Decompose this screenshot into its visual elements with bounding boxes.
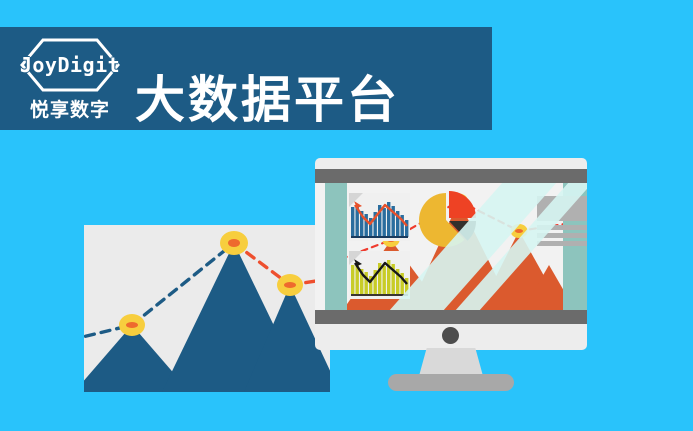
image-placeholder	[537, 196, 587, 221]
yellow-bar-line-card	[349, 251, 410, 299]
power-button[interactable]	[442, 327, 459, 344]
header-bar: JoyDigit 悦享数字 大数据平台	[0, 27, 492, 130]
dashboard-content	[347, 183, 563, 310]
screen-side-band-left	[325, 183, 347, 310]
logo-subtitle: 悦享数字	[30, 95, 110, 122]
monitor-bottom-bezel	[315, 310, 587, 324]
monitor-screen	[315, 183, 587, 310]
mountain-trend-panel	[84, 225, 330, 392]
monitor-stand	[419, 348, 483, 376]
baseline	[351, 294, 408, 296]
baseline	[351, 236, 408, 238]
monitor-top-bezel	[315, 169, 587, 183]
page-title: 大数据平台	[135, 71, 400, 129]
text-line	[537, 241, 587, 246]
text-line	[537, 225, 587, 230]
report-text-block	[537, 196, 587, 243]
text-line	[537, 233, 587, 238]
illustration-canvas: JoyDigit 悦享数字 大数据平台	[0, 0, 693, 431]
monitor-base	[388, 374, 514, 391]
pie-slice-b	[449, 191, 476, 218]
brand-logo[interactable]: JoyDigit 悦享数字	[14, 32, 126, 126]
hexagon-icon: JoyDigit	[16, 36, 124, 94]
logo-wordmark: JoyDigit	[20, 53, 120, 77]
blue-bar-line-card	[349, 193, 410, 241]
desktop-monitor	[315, 158, 587, 350]
category-pie-chart	[419, 191, 477, 249]
